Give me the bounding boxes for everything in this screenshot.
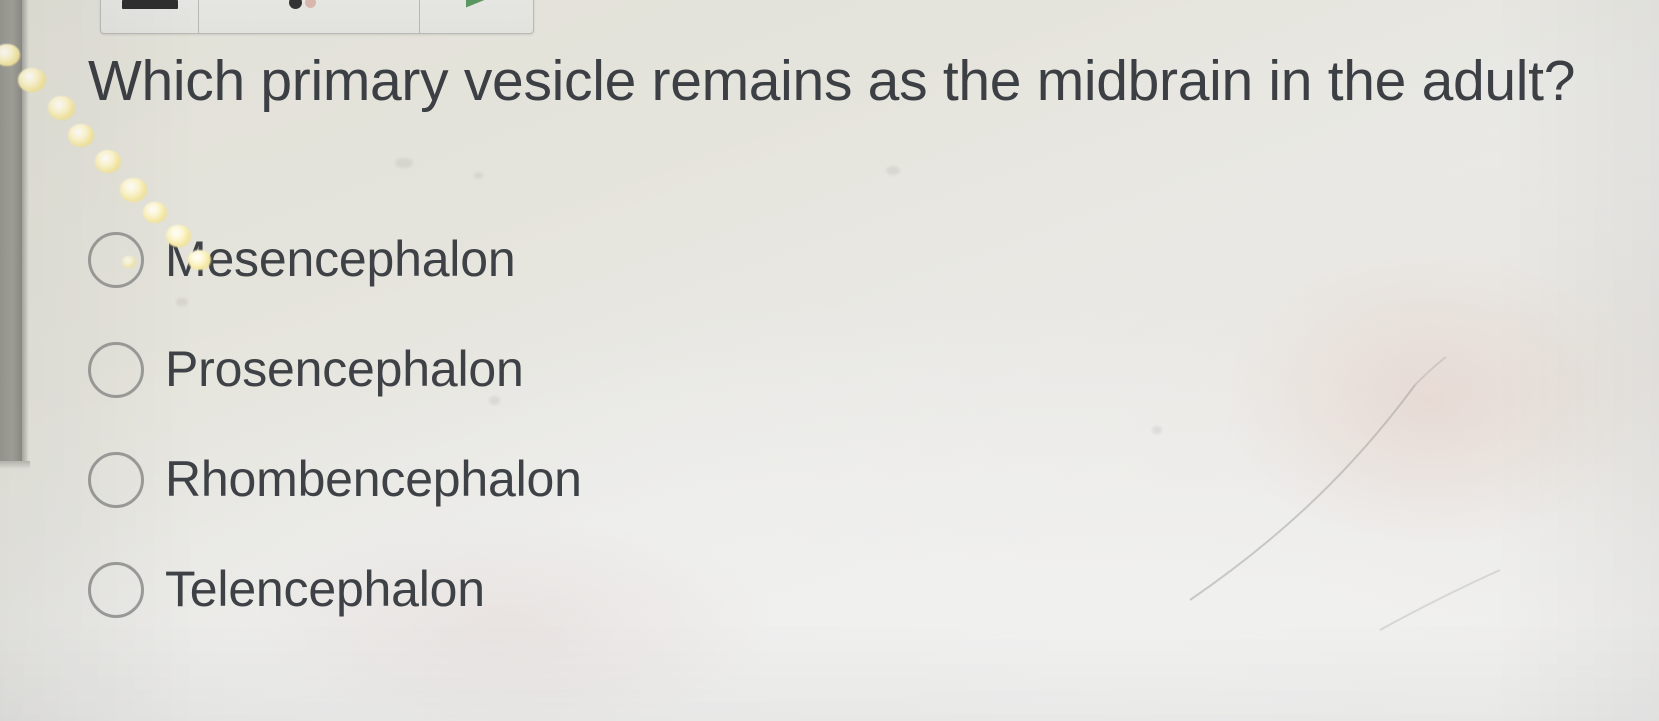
option-mesencephalon[interactable]: Mesencephalon <box>88 205 582 315</box>
radio-button-icon[interactable] <box>88 232 144 288</box>
green-play-icon <box>466 0 488 11</box>
option-label: Telencephalon <box>165 560 485 618</box>
option-telencephalon[interactable]: Telencephalon <box>88 535 582 645</box>
device-bezel-shadow <box>22 0 29 461</box>
minus-bar-icon <box>122 0 178 9</box>
device-bezel-foot <box>0 461 30 469</box>
device-bezel <box>0 0 22 461</box>
radio-button-icon[interactable] <box>88 342 144 398</box>
option-label: Mesencephalon <box>165 230 515 288</box>
option-prosencephalon[interactable]: Prosencephalon <box>88 315 582 425</box>
toolbar-button-options[interactable] <box>199 0 420 33</box>
toolbar-button-menu[interactable] <box>101 0 199 33</box>
radio-button-icon[interactable] <box>88 452 144 508</box>
options-list: Mesencephalon Prosencephalon Rhombenceph… <box>88 205 582 645</box>
radio-button-icon[interactable] <box>88 562 144 618</box>
option-label: Rhombencephalon <box>165 450 582 508</box>
option-rhombencephalon[interactable]: Rhombencephalon <box>88 425 582 535</box>
option-label: Prosencephalon <box>165 340 524 398</box>
top-toolbar[interactable] <box>100 0 534 34</box>
dots-icon <box>289 0 316 9</box>
screen-photo: Which primary vesicle remains as the mid… <box>0 0 1659 721</box>
toolbar-button-submit[interactable] <box>420 0 533 33</box>
question-text: Which primary vesicle remains as the mid… <box>88 52 1648 111</box>
